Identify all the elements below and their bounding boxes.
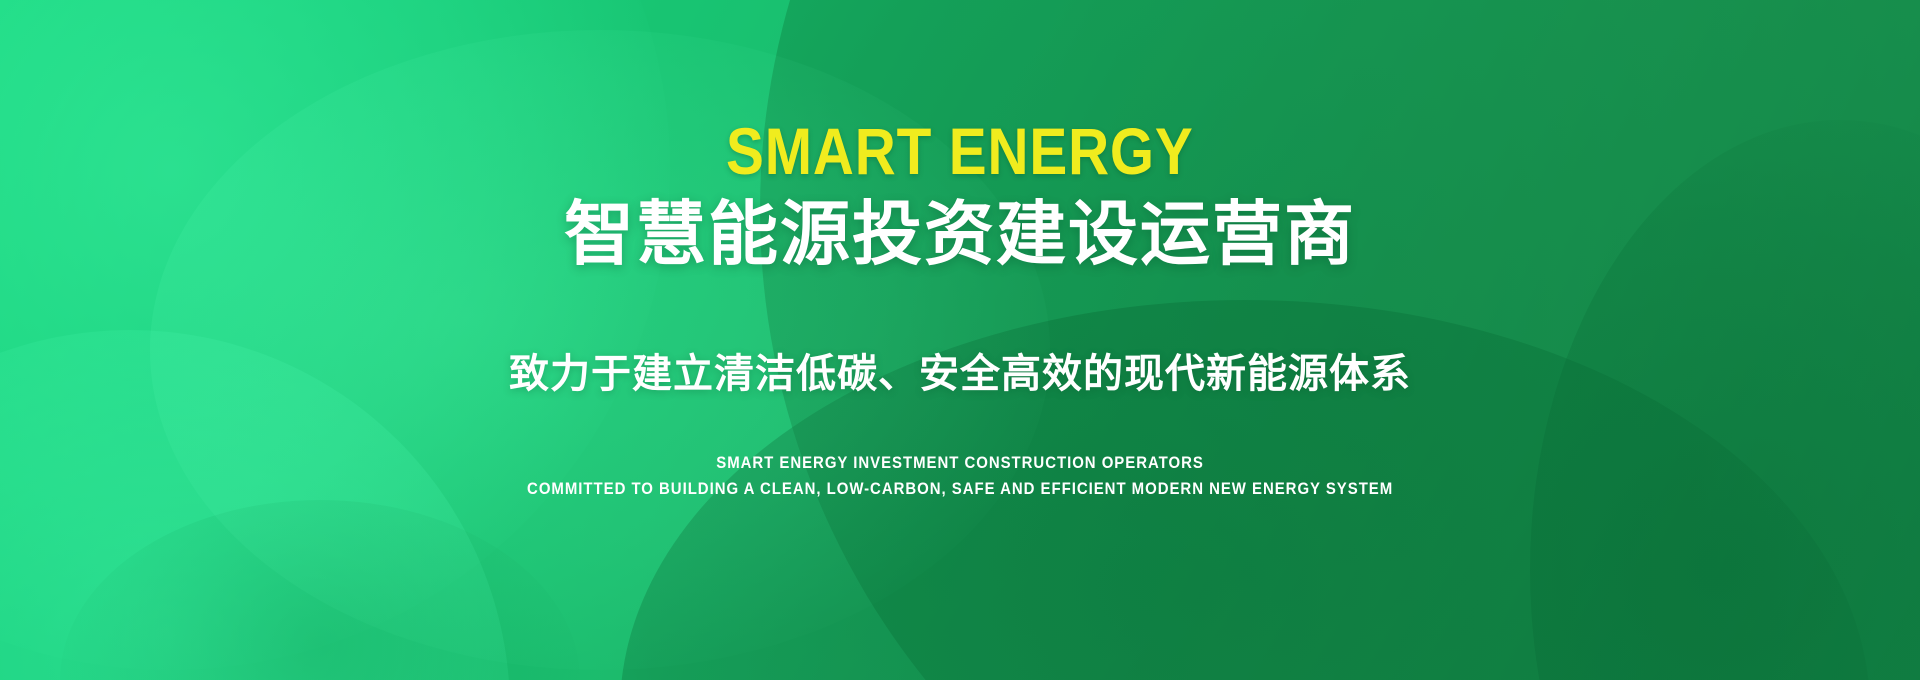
banner-headline-chinese: 智慧能源投资建设运营商	[564, 198, 1356, 272]
banner-content: SMART ENERGY 智慧能源投资建设运营商 致力于建立清洁低碳、安全高效的…	[0, 0, 1920, 680]
banner-eyebrow-english: SMART ENERGY	[726, 118, 1194, 184]
hero-banner: SMART ENERGY 智慧能源投资建设运营商 致力于建立清洁低碳、安全高效的…	[0, 0, 1920, 680]
banner-caption-english-line-1: SMART ENERGY INVESTMENT CONSTRUCTION OPE…	[716, 452, 1204, 473]
banner-caption-english-line-2: COMMITTED TO BUILDING A CLEAN, LOW-CARBO…	[527, 478, 1393, 499]
banner-subheadline-chinese: 致力于建立清洁低碳、安全高效的现代新能源体系	[509, 352, 1411, 396]
banner-caption-block: SMART ENERGY INVESTMENT CONSTRUCTION OPE…	[468, 452, 1452, 500]
